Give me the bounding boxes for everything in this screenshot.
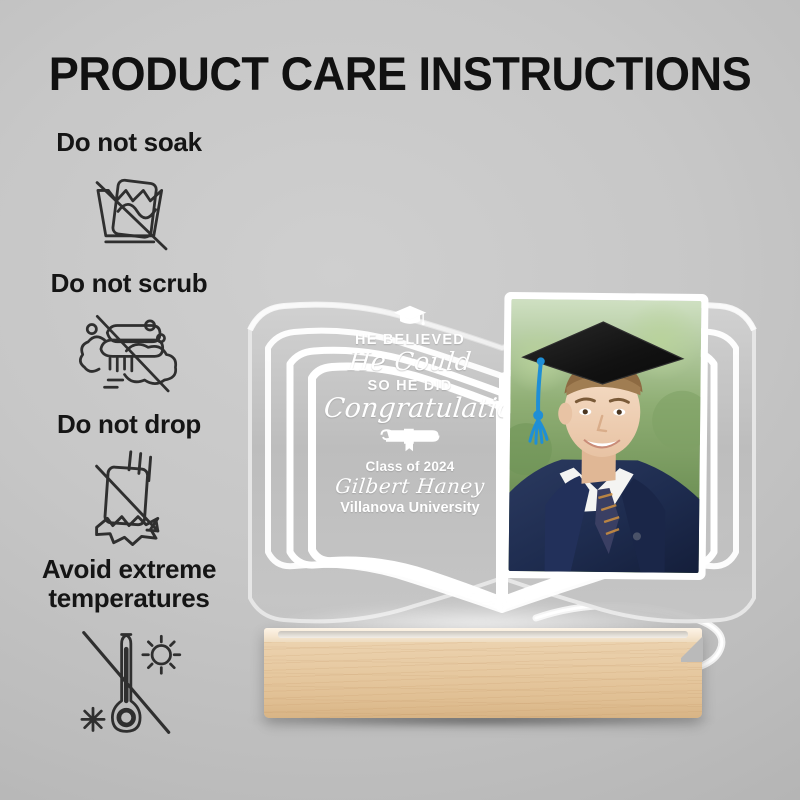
care-item-avoid-extreme-temperatures: Avoid extreme temperatures [0, 555, 258, 735]
base-top-surface [264, 628, 702, 642]
care-item-do-not-soak: Do not soak [0, 128, 258, 255]
plaque-graduate-name: Gilbert Haney [323, 474, 498, 498]
plaque-line-2: He Could [323, 349, 498, 375]
care-label-do-not-soak: Do not soak [0, 128, 258, 157]
care-item-do-not-drop: Do not drop [0, 410, 258, 549]
plaque-line-4: Congratulations [323, 395, 498, 423]
graduation-cap-icon [393, 304, 427, 326]
product-photo: HE BELIEVED He Could SO HE DID Congratul… [232, 272, 772, 742]
no-extreme-temperature-icon [69, 616, 189, 736]
no-soak-icon [77, 159, 182, 255]
base-right-bevel [681, 636, 703, 662]
care-instruction-list: Do not soak Do not scrub [0, 128, 258, 742]
care-label-do-not-drop: Do not drop [0, 410, 258, 439]
plaque-class-of: Class of 2024 [324, 459, 496, 474]
diploma-scroll-icon [377, 427, 443, 453]
base-acrylic-slot [278, 631, 688, 638]
care-label-line-1: Avoid extreme [0, 555, 258, 584]
care-label-line-2: temperatures [0, 584, 258, 613]
page-title: PRODUCT CARE INSTRUCTIONS [16, 46, 784, 101]
care-label-avoid-extreme-temperatures: Avoid extreme temperatures [0, 555, 258, 613]
no-scrub-icon [70, 300, 188, 400]
plaque-school-name: Villanova University [324, 500, 496, 516]
graduate-portrait-photo [509, 299, 702, 573]
care-label-do-not-scrub: Do not scrub [0, 269, 258, 298]
plaque-text-block: HE BELIEVED He Could SO HE DID Congratul… [324, 304, 496, 516]
no-drop-icon [75, 441, 183, 549]
wooden-led-base [264, 628, 702, 718]
product-care-instruction-image: PRODUCT CARE INSTRUCTIONS Do not soak Do… [0, 0, 800, 800]
care-item-do-not-scrub: Do not scrub [0, 269, 258, 400]
